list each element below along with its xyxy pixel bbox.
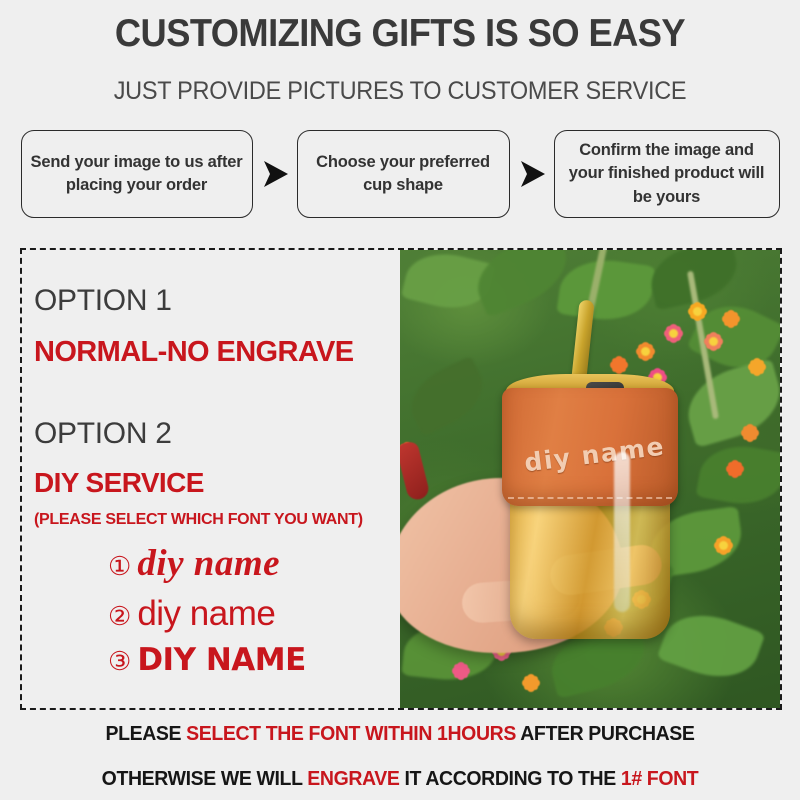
font-choice-3[interactable]: ③ DIY NAME xyxy=(108,645,400,676)
footer-l2-highlight-2: 1# FONT xyxy=(621,767,698,790)
circled-number-3-icon: ③ xyxy=(108,648,131,674)
options-column: OPTION 1 NORMAL-NO ENGRAVE OPTION 2 DIY … xyxy=(22,250,400,708)
tumbler: diy name xyxy=(502,346,678,646)
engraved-name-text: diy name xyxy=(523,432,667,478)
options-panel: OPTION 1 NORMAL-NO ENGRAVE OPTION 2 DIY … xyxy=(20,248,782,710)
step-box-3: Confirm the image and your finished prod… xyxy=(554,130,780,218)
font-choice-list: ① diy name ② diy name ③ DIY NAME xyxy=(34,545,400,676)
footer-l2-part1: OTHERWISE WE WILL xyxy=(102,767,308,790)
footer-l2-part2: IT ACCORDING TO THE xyxy=(399,767,620,790)
font-sample-1: diy name xyxy=(137,545,280,582)
font-sample-3: DIY NAME xyxy=(137,645,305,676)
font-choice-2[interactable]: ② diy name xyxy=(108,596,400,631)
option-2-value[interactable]: DIY SERVICE xyxy=(34,469,400,497)
steps-row: Send your image to us after placing your… xyxy=(0,130,800,218)
footer-l1-highlight: SELECT THE FONT WITHIN 1HOURS xyxy=(186,722,516,745)
font-choice-1[interactable]: ① diy name xyxy=(108,545,400,582)
font-sample-2: diy name xyxy=(137,596,275,631)
arrow-right-icon xyxy=(253,157,297,191)
footer-l1-part2: AFTER PURCHASE xyxy=(516,722,695,745)
product-photo-scene: diy name xyxy=(400,250,780,708)
page-title: CUSTOMIZING GIFTS IS SO EASY xyxy=(28,14,772,55)
footer-line-2: OTHERWISE WE WILL ENGRAVE IT ACCORDING T… xyxy=(20,769,780,790)
arrow-right-icon-2 xyxy=(510,157,554,191)
footer-l2-highlight-1: ENGRAVE xyxy=(307,767,399,790)
leather-sleeve: diy name xyxy=(502,388,678,506)
step-box-1: Send your image to us after placing your… xyxy=(21,130,253,218)
circled-number-1-icon: ① xyxy=(108,553,131,579)
option-1-value[interactable]: NORMAL-NO ENGRAVE xyxy=(34,338,400,367)
option-1-label: OPTION 1 xyxy=(34,286,400,316)
step-3-text: Confirm the image and your finished prod… xyxy=(563,139,771,209)
step-2-text: Choose your preferred cup shape xyxy=(306,151,501,198)
circled-number-2-icon: ② xyxy=(108,603,131,629)
option-2-label: OPTION 2 xyxy=(34,419,400,449)
footer: PLEASE SELECT THE FONT WITHIN 1HOURS AFT… xyxy=(0,724,800,789)
step-box-2: Choose your preferred cup shape xyxy=(297,130,510,218)
product-photo: diy name xyxy=(400,250,780,708)
page-subtitle: JUST PROVIDE PICTURES TO CUSTOMER SERVIC… xyxy=(24,77,776,106)
fingernail xyxy=(400,440,431,502)
step-1-text: Send your image to us after placing your… xyxy=(30,151,244,198)
glass-highlight xyxy=(614,452,630,612)
header: CUSTOMIZING GIFTS IS SO EASY JUST PROVID… xyxy=(0,0,800,106)
footer-line-1: PLEASE SELECT THE FONT WITHIN 1HOURS AFT… xyxy=(20,724,780,745)
footer-l1-part1: PLEASE xyxy=(105,722,186,745)
font-selection-note: (PLEASE SELECT WHICH FONT YOU WANT) xyxy=(34,511,400,529)
